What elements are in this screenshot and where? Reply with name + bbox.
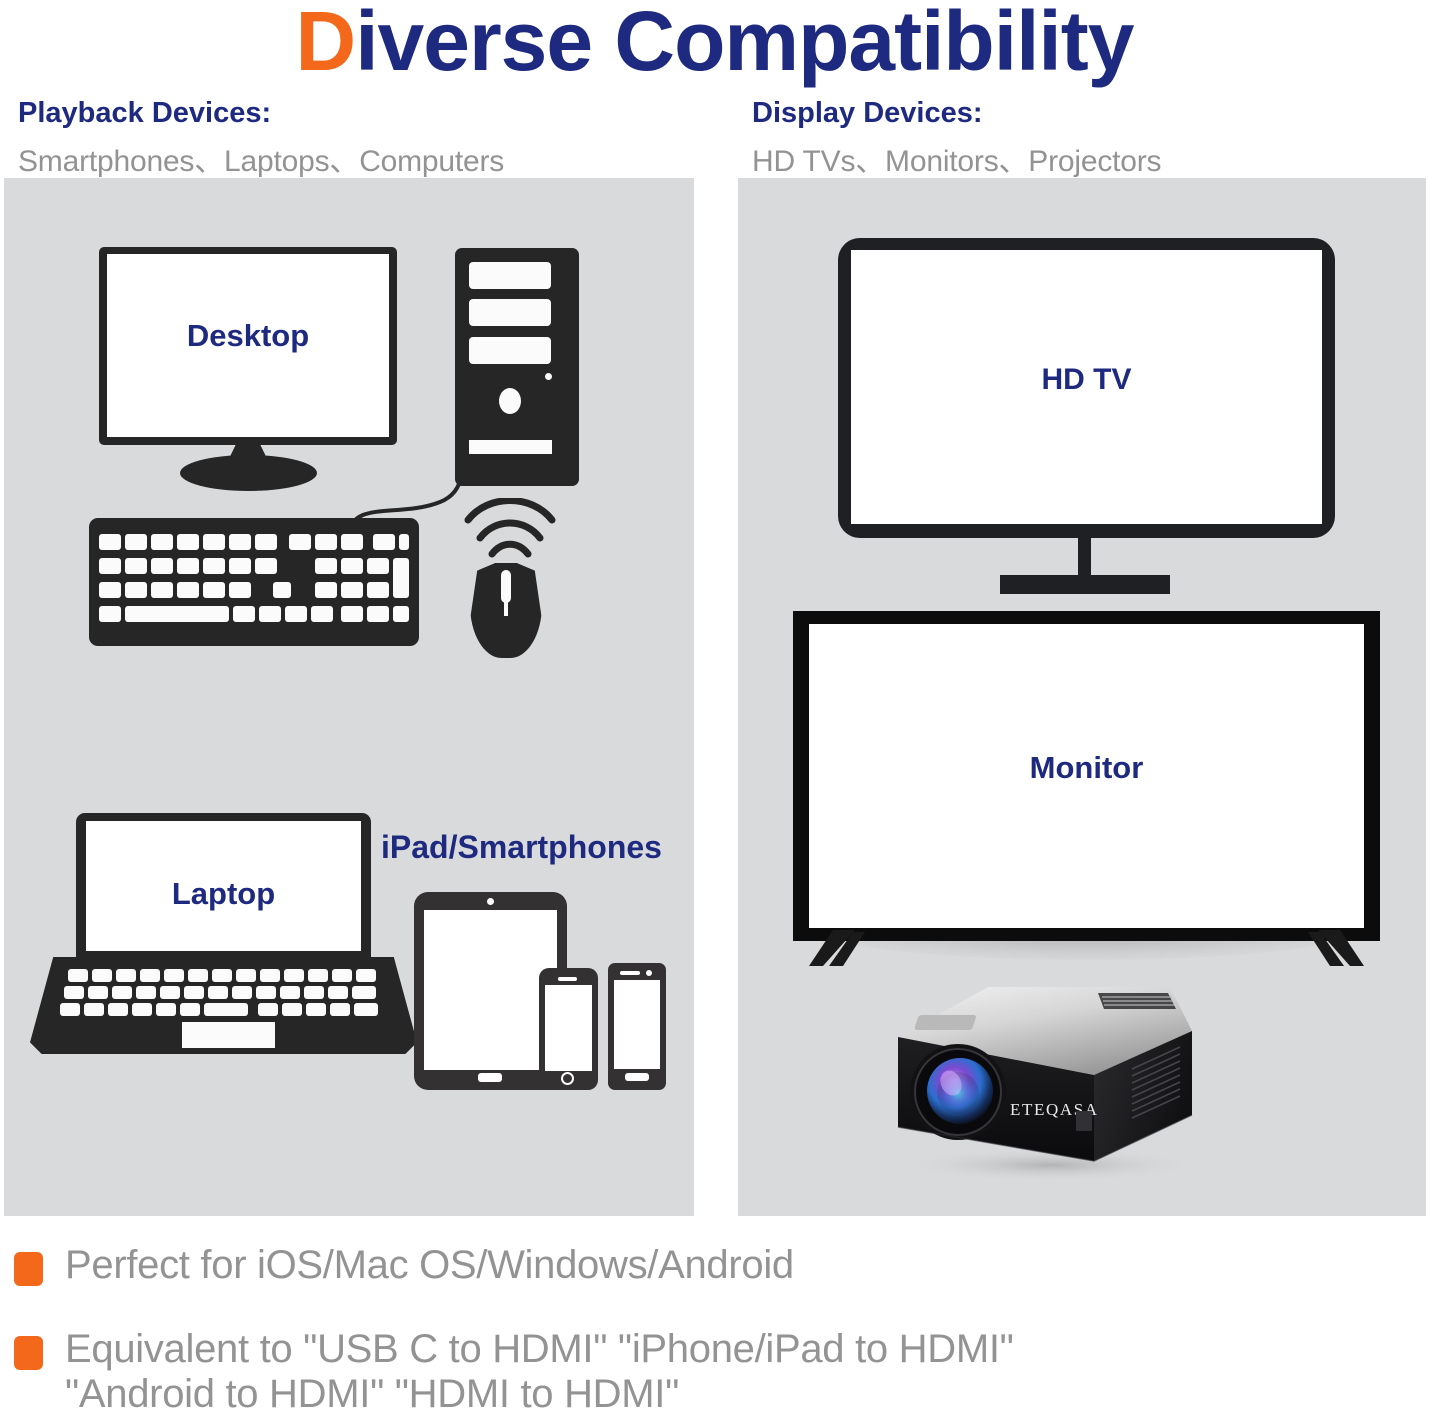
tower-led-indicator xyxy=(545,373,552,380)
ipad-smartphones-label: iPad/Smartphones xyxy=(381,829,662,866)
laptop-screen-label: Laptop xyxy=(86,876,361,912)
hdtv-stand-base xyxy=(1000,575,1170,594)
smartphone-camera-icon xyxy=(646,970,652,976)
wireless-signal-icon xyxy=(462,498,558,560)
title-accent-letter: D xyxy=(296,0,356,88)
hdtv-screen-label: HD TV xyxy=(851,363,1322,397)
page-title: Diverse Compatibility xyxy=(0,0,1429,87)
laptop-trackpad xyxy=(182,1022,275,1048)
display-devices-subtitle: HD TVs、Monitors、Projectors xyxy=(752,136,1161,180)
tablet-camera-icon xyxy=(487,898,494,905)
smartphone-speaker-icon xyxy=(558,977,577,981)
hdtv-stand-neck xyxy=(1078,535,1091,580)
desktop-screen-label: Desktop xyxy=(107,318,389,354)
smartphone-home-button-icon xyxy=(561,1072,574,1085)
tower-drive-bay xyxy=(469,337,551,364)
display-devices-heading: Display Devices: xyxy=(752,97,983,130)
monitor-screen-label: Monitor xyxy=(809,750,1364,786)
smartphone-speaker-icon xyxy=(620,971,640,975)
keyboard-icon xyxy=(89,518,419,646)
projector-image: ETEQASA xyxy=(880,965,1210,1180)
tablet-home-button-icon xyxy=(478,1073,502,1082)
tower-power-button-icon xyxy=(499,388,521,414)
feature-bullet-row: Equivalent to "USB C to HDMI" "iPhone/iP… xyxy=(14,1327,1014,1417)
smartphone-screen xyxy=(614,980,660,1069)
playback-devices-subtitle: Smartphones、Laptops、Computers xyxy=(18,136,504,180)
keyboard-row xyxy=(89,558,419,574)
mouse-scroll-wheel xyxy=(501,570,511,603)
tower-drive-bay xyxy=(469,262,551,289)
feature-bullet-text: Perfect for iOS/Mac OS/Windows/Android xyxy=(65,1243,794,1288)
keyboard-row xyxy=(89,606,419,622)
title-rest: iverse Compatibility xyxy=(355,0,1133,88)
playback-devices-heading: Playback Devices: xyxy=(18,97,271,130)
feature-bullet-row: Perfect for iOS/Mac OS/Windows/Android xyxy=(14,1243,794,1288)
monitor-stand-feet xyxy=(793,930,1380,970)
keyboard-row xyxy=(89,582,419,598)
bullet-square-icon xyxy=(14,1336,43,1370)
bullet-square-icon xyxy=(14,1252,43,1286)
smartphone-screen xyxy=(545,985,592,1071)
tower-drive-bay xyxy=(469,299,551,326)
feature-bullet-text: Equivalent to "USB C to HDMI" "iPhone/iP… xyxy=(65,1327,1014,1417)
mouse-wheel-stem xyxy=(504,600,508,616)
tablet-screen xyxy=(424,910,557,1070)
keyboard-row xyxy=(89,534,419,550)
desktop-monitor-base xyxy=(180,455,317,491)
smartphone-home-button-icon xyxy=(625,1073,649,1081)
